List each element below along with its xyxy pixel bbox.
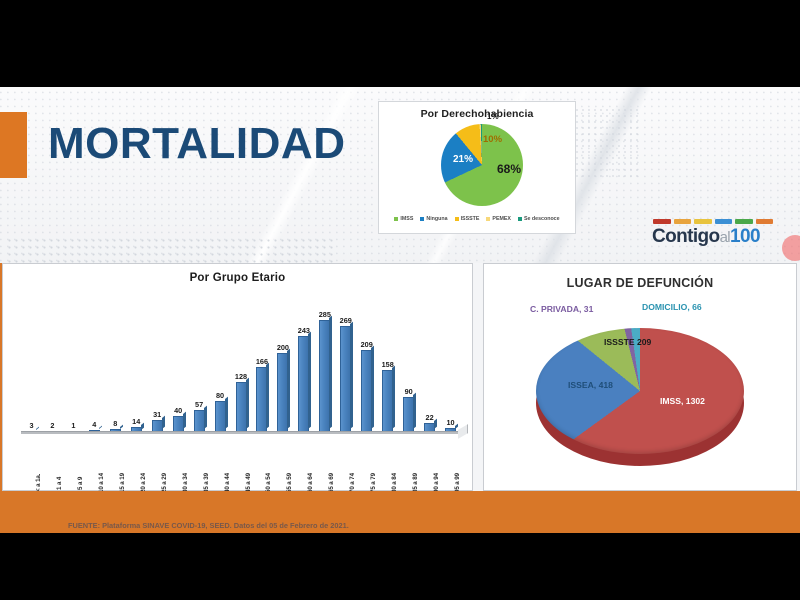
bar-value-label: 3 xyxy=(29,421,33,430)
bar xyxy=(236,382,247,432)
bar-column: 14 xyxy=(126,294,147,432)
bar-column: 57 xyxy=(189,294,210,432)
legend-item-ninguna: Ninguna xyxy=(420,216,447,222)
bar xyxy=(256,367,267,432)
bar xyxy=(215,401,226,432)
bar xyxy=(277,353,288,432)
source-note: FUENTE: Plataforma SINAVE COVID-19, SEED… xyxy=(68,521,528,530)
bar xyxy=(361,350,372,432)
page-title: MORTALIDAD xyxy=(48,119,345,169)
bar-value-label: 8 xyxy=(113,419,117,428)
chart-title-derechohabiencia: Por Derechohabiencia xyxy=(379,102,575,120)
bar-value-label: 2 xyxy=(50,421,54,430)
bar-column: 22 xyxy=(419,294,440,432)
bar-value-label: 57 xyxy=(195,400,203,409)
chart-panel-lugar-defuncion: LUGAR DE DEFUNCIÓN IMSS, 1302 ISSEA, 418… xyxy=(483,263,797,491)
legend-label-pemex: PEMEX xyxy=(492,216,511,222)
bar-series-container: 3214814314057801281662002432852692091589… xyxy=(21,294,461,432)
bar xyxy=(298,336,309,432)
bar-column: 90 xyxy=(398,294,419,432)
presentation-slide: MORTALIDAD Contigoal100 Por Derechohabie… xyxy=(0,87,800,533)
bar-column: 31 xyxy=(147,294,168,432)
pie-chart-derechohabiencia: 68% 21% 10% 1% xyxy=(379,120,577,212)
bar xyxy=(382,370,393,432)
chart-title-lugar-defuncion: LUGAR DE DEFUNCIÓN xyxy=(484,264,796,290)
bar xyxy=(319,320,330,432)
letterbox-bottom xyxy=(0,533,800,600)
pie-label-ninguna: 21% xyxy=(453,154,473,165)
pie-label-imss-defuncion: IMSS, 1302 xyxy=(660,396,705,406)
logo-text-contigo: Contigo xyxy=(652,226,720,247)
bar-column: 10 xyxy=(440,294,461,432)
bar-column: 2 xyxy=(42,294,63,432)
bar-column: 285 xyxy=(314,294,335,432)
pie-legend-derechohabiencia: IMSS Ninguna ISSSTE PEMEX Se desconoce xyxy=(379,212,575,222)
bar-value-label: 1 xyxy=(71,421,75,430)
bar-value-label: 10 xyxy=(446,418,454,427)
logo-wordmark: Contigoal100 xyxy=(650,226,776,248)
bar-value-label: 14 xyxy=(132,417,140,426)
bar-column: 243 xyxy=(293,294,314,432)
bar-value-label: 80 xyxy=(216,391,224,400)
bar-value-label: 4 xyxy=(92,420,96,429)
title-accent-bar xyxy=(0,112,27,178)
legend-label-imss: IMSS xyxy=(400,216,413,222)
pie-label-issste-defuncion: ISSSTE 209 xyxy=(604,338,651,347)
bar-column: 200 xyxy=(272,294,293,432)
pie-label-issea: ISSEA, 418 xyxy=(568,380,613,390)
bar xyxy=(340,326,351,432)
pie-chart-lugar-defuncion: IMSS, 1302 ISSEA, 418 ISSSTE 209 C. PRIV… xyxy=(512,300,770,476)
bar-column: 128 xyxy=(231,294,252,432)
chart-title-grupo-etario: Por Grupo Etario xyxy=(3,264,472,284)
bar xyxy=(194,410,205,432)
bar xyxy=(403,397,414,432)
bar-column: 158 xyxy=(377,294,398,432)
logo-color-bars xyxy=(650,219,776,224)
bar-column: 8 xyxy=(105,294,126,432)
chart-panel-grupo-etario: Por Grupo Etario 32148143140578012816620… xyxy=(2,263,473,491)
pie-label-se-desconoce: 1% xyxy=(487,112,499,121)
bar-column: 4 xyxy=(84,294,105,432)
bar-chart-grupo-etario: 3214814314057801281662002432852692091589… xyxy=(21,294,461,462)
bar-chart-x-axis xyxy=(21,431,461,434)
pink-circle-decoration xyxy=(782,235,800,261)
legend-label-ninguna: Ninguna xyxy=(426,216,447,222)
letterbox-top xyxy=(0,0,800,87)
bar-value-label: 90 xyxy=(405,387,413,396)
legend-label-issste: ISSSTE xyxy=(461,216,480,222)
legend-label-se-desconoce: Se desconoce xyxy=(524,216,560,222)
legend-item-pemex: PEMEX xyxy=(486,216,511,222)
bar-column: 166 xyxy=(251,294,272,432)
chart-card-derechohabiencia: Por Derechohabiencia 68% 21% 10% 1% IMSS… xyxy=(378,101,576,234)
bar-value-label: 22 xyxy=(426,413,434,422)
logo-contigo-al-100: Contigoal100 xyxy=(650,219,776,249)
legend-item-issste: ISSSTE xyxy=(455,216,480,222)
slide-viewer: MORTALIDAD Contigoal100 Por Derechohabie… xyxy=(0,0,800,600)
bar-value-label: 40 xyxy=(174,406,182,415)
bar-column: 40 xyxy=(168,294,189,432)
legend-item-se-desconoce: Se desconoce xyxy=(518,216,560,222)
pie-label-imss: 68% xyxy=(497,162,521,176)
pie-label-domicilio: DOMICILIO, 66 xyxy=(642,302,702,312)
bar xyxy=(173,416,184,432)
bar-column: 3 xyxy=(21,294,42,432)
bar-column: 269 xyxy=(335,294,356,432)
bar-value-label: 31 xyxy=(153,410,161,419)
bar-column: 209 xyxy=(356,294,377,432)
logo-text-100: 100 xyxy=(730,226,760,247)
logo-text-al: al xyxy=(720,229,730,246)
pie-label-c-privada: C. PRIVADA, 31 xyxy=(530,304,593,314)
pie-label-issste: 10% xyxy=(483,134,502,145)
legend-item-imss: IMSS xyxy=(394,216,413,222)
bar-column: 80 xyxy=(210,294,231,432)
bar-column: 1 xyxy=(63,294,84,432)
